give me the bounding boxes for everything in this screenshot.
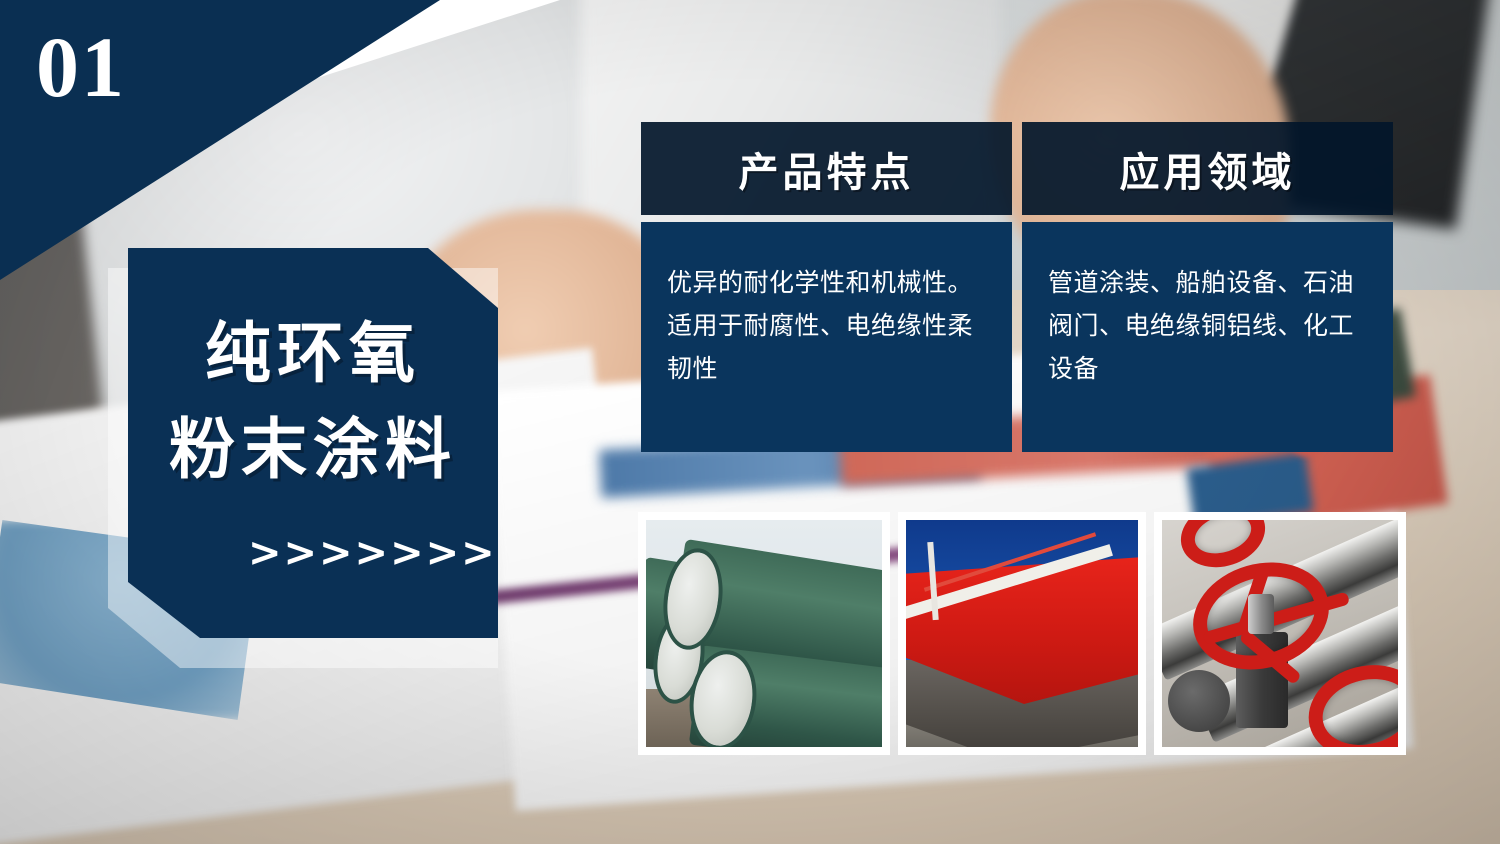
valve-flange [1168, 670, 1230, 732]
red-ship-hull-photo [898, 512, 1146, 755]
panel-body-product-features: 优异的耐化学性和机械性。适用于耐腐性、电绝缘性柔韧性 [641, 222, 1012, 452]
title-line-1: 纯环氧 [128, 320, 498, 386]
coated-steel-pipes-photo [638, 512, 890, 755]
red-valve-handwheels-photo [1154, 512, 1406, 755]
panel-heading-text: 应用领域 [1120, 140, 1296, 198]
info-panels: 产品特点 优异的耐化学性和机械性。适用于耐腐性、电绝缘性柔韧性 应用领域 管道涂… [641, 122, 1393, 452]
photo-inner [1162, 520, 1398, 747]
presentation-slide: 01 纯环氧 粉末涂料 >>>>>>>>> 产品特点 优异的耐化学性和机械性。适… [0, 0, 1500, 844]
slide-number: 01 [36, 24, 126, 110]
photo-inner [646, 520, 882, 747]
valve-stem [1248, 594, 1274, 634]
panel-body-application-fields: 管道涂装、船舶设备、石油阀门、电绝缘铜铝线、化工设备 [1022, 222, 1393, 452]
panel-header-product-features: 产品特点 [641, 122, 1012, 215]
panel-body-text: 管道涂装、船舶设备、石油阀门、电绝缘铜铝线、化工设备 [1048, 262, 1367, 391]
photo-strip [638, 512, 1406, 755]
panel-header-application-fields: 应用领域 [1022, 122, 1393, 215]
panel-product-features: 产品特点 优异的耐化学性和机械性。适用于耐腐性、电绝缘性柔韧性 [641, 122, 1012, 452]
panel-application-fields: 应用领域 管道涂装、船舶设备、石油阀门、电绝缘铜铝线、化工设备 [1022, 122, 1393, 452]
panel-heading-text: 产品特点 [739, 140, 915, 198]
chevron-arrows-icon: >>>>>>>>> [128, 530, 498, 576]
panel-body-text: 优异的耐化学性和机械性。适用于耐腐性、电绝缘性柔韧性 [667, 262, 986, 391]
title-line-2: 粉末涂料 [128, 416, 498, 482]
photo-inner [906, 520, 1138, 747]
title-card: 纯环氧 粉末涂料 >>>>>>>>> [128, 248, 498, 638]
